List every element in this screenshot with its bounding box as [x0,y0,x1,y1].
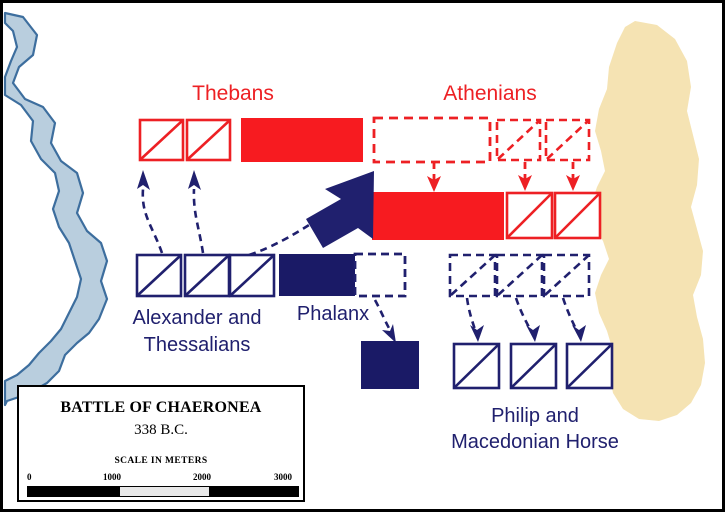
scale-tick-0: 0 [27,472,32,482]
greek-later-units [372,192,600,240]
phalanx-advanced-block [361,341,419,389]
phalanx-advance-arrow [306,171,374,248]
scale-caption: SCALE IN METERS [19,456,303,466]
macedonian-cavalry-final-3 [567,344,612,388]
thessalian-cavalry-3 [230,255,274,296]
macedonian-cavalry-arrow-3 [563,298,586,342]
macedonian-cavalry-final-2 [511,344,556,388]
macedonian-cavalry-dashed-1 [450,255,495,296]
athenian-infantry-initial [374,118,490,162]
athenian-cavalry-retreat-arrow-2 [566,162,580,191]
athenian-cavalry-final-1 [507,193,552,238]
scale-segment-1 [28,487,120,496]
macedonian-cavalry-final-1 [454,344,499,388]
thessalian-advance-arrow-1 [137,170,162,253]
legend-date: 338 B.C. [19,422,303,439]
theban-cavalry-2 [187,120,230,160]
thessalian-advance-arrow-2 [188,170,203,253]
athenian-cavalry-initial-2 [546,120,589,160]
macedonian-cavalry-arrow-1 [467,298,484,342]
athenian-cavalry-retreat-arrow-1 [518,162,532,191]
athenian-infantry-retreat-arrow [427,162,441,192]
macedonian-cavalry-dashed-3 [544,255,589,296]
phalanx-dashed-position [355,254,405,296]
theban-cavalry-1 [140,120,183,160]
thessalian-cavalry-2 [185,255,229,296]
scale-tick-2000: 2000 [193,472,211,482]
macedonian-cavalry-dashed-2 [497,255,542,296]
legend-title: BATTLE OF CHAERONEA [19,399,303,417]
river [5,13,107,405]
thessalian-connector-arrow [249,225,309,255]
battle-map: N Thebans Athenians Alexander and Thessa… [0,0,725,512]
macedonian-initial-units [137,254,589,296]
scale-segment-2 [120,487,209,496]
thessalian-cavalry-1 [137,255,181,296]
scale-bar [27,486,299,497]
red-movement-arrows [427,162,580,192]
scale-segment-3 [209,487,298,496]
macedonian-later-units [361,341,612,389]
phalanx-block [279,254,357,296]
athenian-cavalry-final-2 [555,193,600,238]
scale-tick-1000: 1000 [103,472,121,482]
athenian-cavalry-initial-1 [497,120,540,160]
legend-box: BATTLE OF CHAERONEA 338 B.C. SCALE IN ME… [17,385,305,502]
athenian-infantry-final [372,192,504,240]
greek-initial-units [140,118,589,162]
phalanx-shift-arrow [375,300,396,343]
macedonian-cavalry-arrow-2 [516,298,540,342]
theban-infantry-block [241,118,363,162]
scale-tick-3000: 3000 [274,472,292,482]
